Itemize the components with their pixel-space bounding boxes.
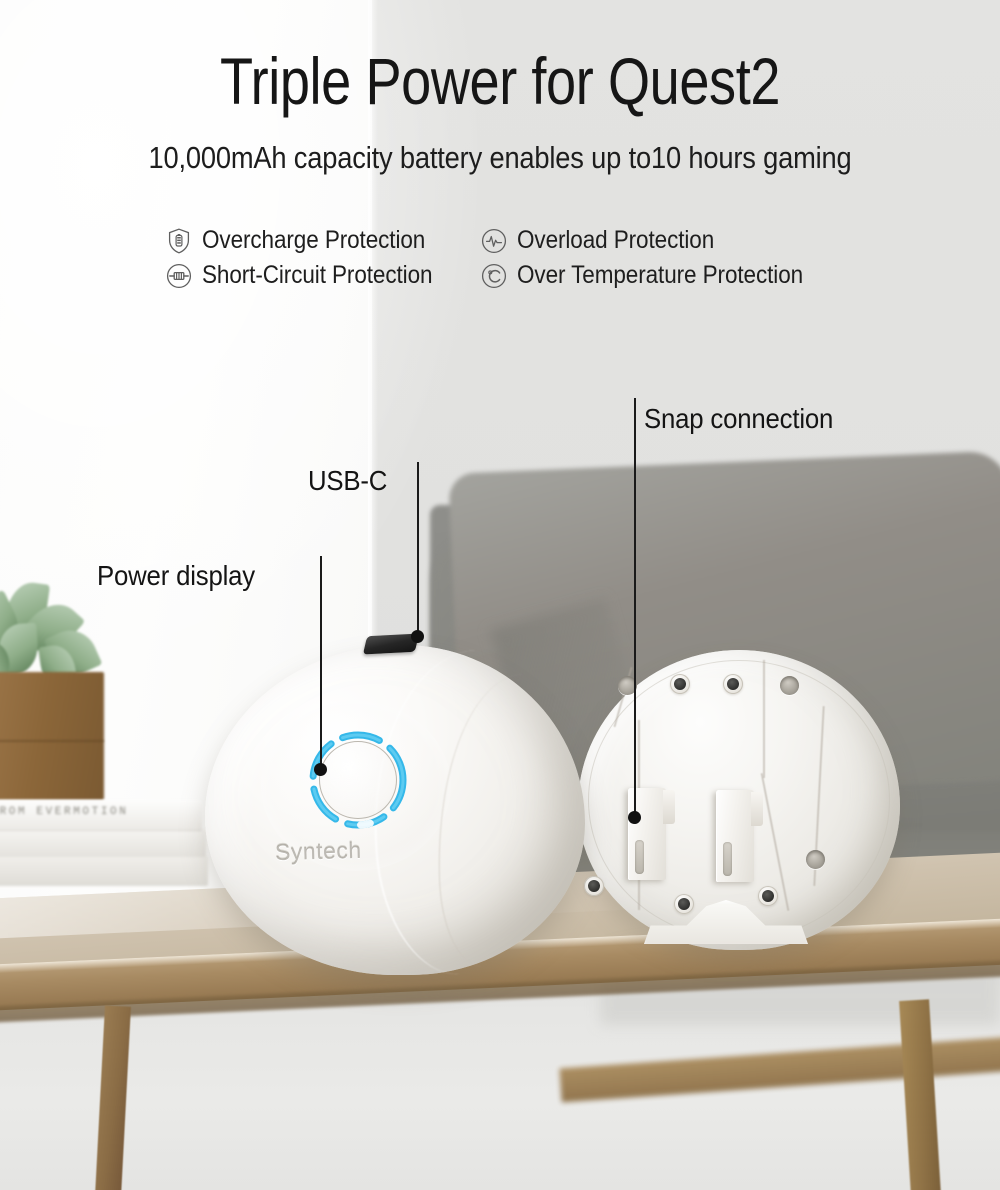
shield-battery-icon <box>165 227 193 255</box>
book-top: S FROM EVERMOTION <box>0 800 202 830</box>
battery-back-plate <box>578 650 900 950</box>
page-title: Triple Power for Quest2 <box>90 48 910 114</box>
book-stack: S FROM EVERMOTION <box>0 800 210 900</box>
wooden-planter <box>0 672 104 800</box>
feature-label: Overcharge Protection <box>202 226 425 255</box>
feature-overcharge-protection: Overcharge Protection <box>165 226 458 255</box>
pulse-circle-icon <box>480 227 508 255</box>
planter-seam <box>0 740 104 742</box>
feature-over-temperature-protection: Over Temperature Protection <box>480 261 835 290</box>
mount-hole-bottom-right <box>806 850 825 869</box>
callout-label: Snap connection <box>644 403 833 435</box>
callout-leader-line <box>634 398 636 818</box>
feature-overload-protection: Overload Protection <box>480 226 835 255</box>
screw-bottom-right <box>758 886 778 906</box>
callout-leader-line <box>320 556 322 770</box>
page-subtitle: 10,000mAh capacity battery enables up to… <box>60 140 940 176</box>
background-scene: S FROM EVERMOTION <box>0 0 1000 1190</box>
screw-bottom-center <box>674 894 694 914</box>
fuse-circle-icon <box>165 262 193 290</box>
battery-front-unit <box>205 645 585 975</box>
callout-leader-line <box>417 462 419 634</box>
book-bottom <box>0 856 208 886</box>
feature-label: Over Temperature Protection <box>517 261 803 290</box>
celsius-circle-icon <box>480 262 508 290</box>
snap-clip-left-notch <box>635 840 644 874</box>
screw-top-center-right <box>723 674 743 694</box>
callout-leader-dot <box>628 811 641 824</box>
screw-bottom-left <box>584 876 604 896</box>
screw-top-center-left <box>670 674 690 694</box>
book-spine-text: S FROM EVERMOTION <box>0 806 128 818</box>
callout-label: USB-C <box>308 465 387 497</box>
protection-feature-list: Overcharge Protection Overload Protectio… <box>0 226 1000 290</box>
panel-line-3 <box>763 660 765 778</box>
feature-label: Short-Circuit Protection <box>202 261 432 290</box>
feature-label: Overload Protection <box>517 226 714 255</box>
mount-hole-top-right <box>780 676 799 695</box>
feature-short-circuit-protection: Short-Circuit Protection <box>165 261 458 290</box>
product-marketing-image: S FROM EVERMOTION <box>0 0 1000 1190</box>
snap-clip-right-hook <box>751 792 763 826</box>
book-middle <box>0 829 206 857</box>
callout-leader-dot <box>314 763 327 776</box>
brand-logo: Syntech <box>275 837 362 866</box>
callout-label: Power display <box>97 560 255 592</box>
snap-clip-left-hook <box>663 790 675 824</box>
snap-clip-right-notch <box>723 842 732 876</box>
power-button[interactable] <box>319 741 397 819</box>
callout-leader-dot <box>411 630 424 643</box>
snap-clip-right <box>716 790 754 882</box>
